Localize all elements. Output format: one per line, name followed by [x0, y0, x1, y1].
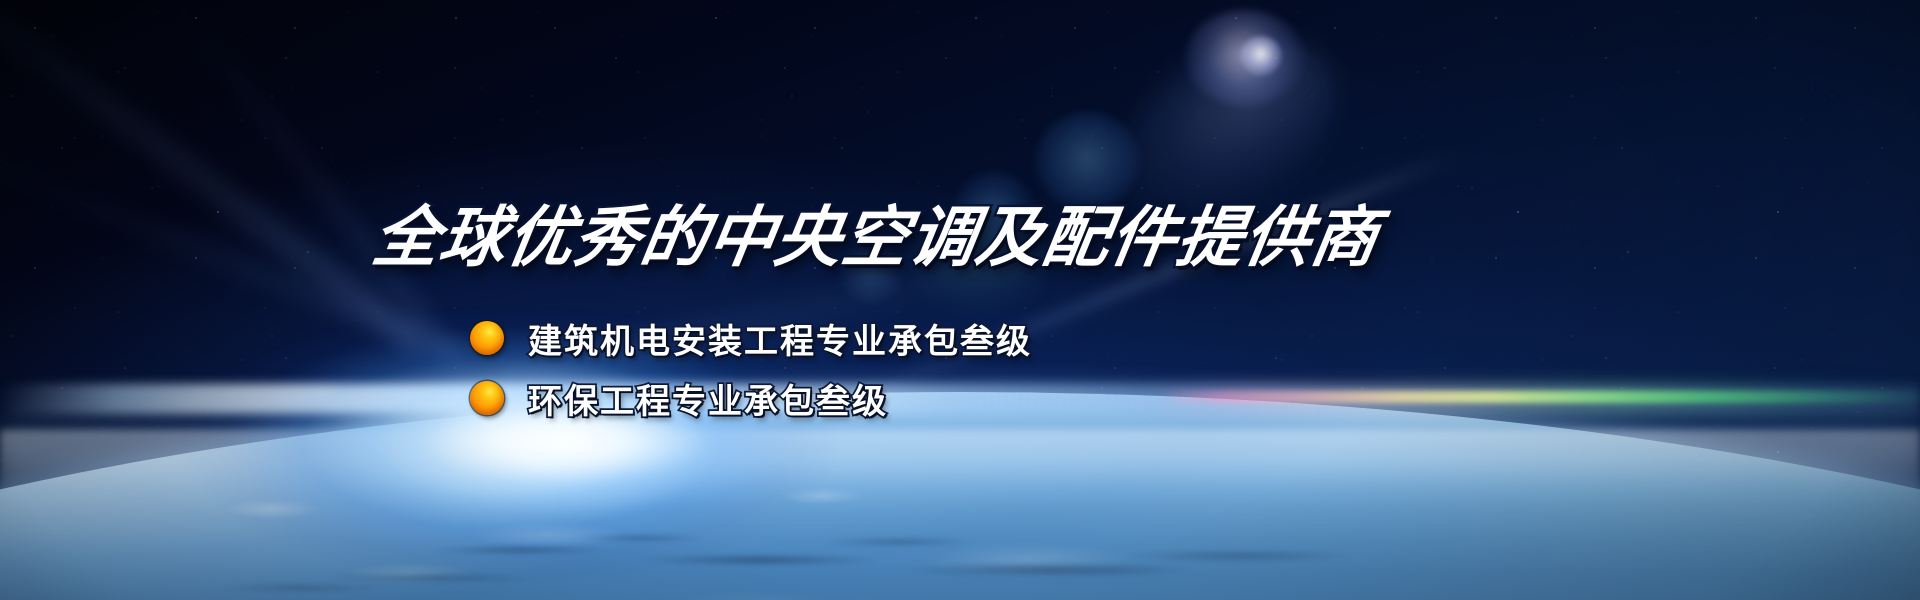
banner-bullet-item: 建筑机电安装工程专业承包叁级	[470, 310, 1032, 366]
banner-bullet-item: 环保工程专业承包叁级	[470, 370, 1032, 426]
orange-dot-icon	[470, 381, 504, 415]
banner-bullet-label: 建筑机电安装工程专业承包叁级	[528, 314, 1032, 363]
orange-dot-icon	[470, 321, 504, 355]
hero-banner: 全球优秀的中央空调及配件提供商 建筑机电安装工程专业承包叁级 环保工程专业承包叁…	[0, 0, 1920, 600]
banner-headline: 全球优秀的中央空调及配件提供商	[368, 203, 1384, 273]
banner-content: 全球优秀的中央空调及配件提供商 建筑机电安装工程专业承包叁级 环保工程专业承包叁…	[0, 0, 1920, 600]
banner-bullet-label: 环保工程专业承包叁级	[528, 374, 888, 423]
banner-bullet-list: 建筑机电安装工程专业承包叁级 环保工程专业承包叁级	[470, 310, 1032, 430]
